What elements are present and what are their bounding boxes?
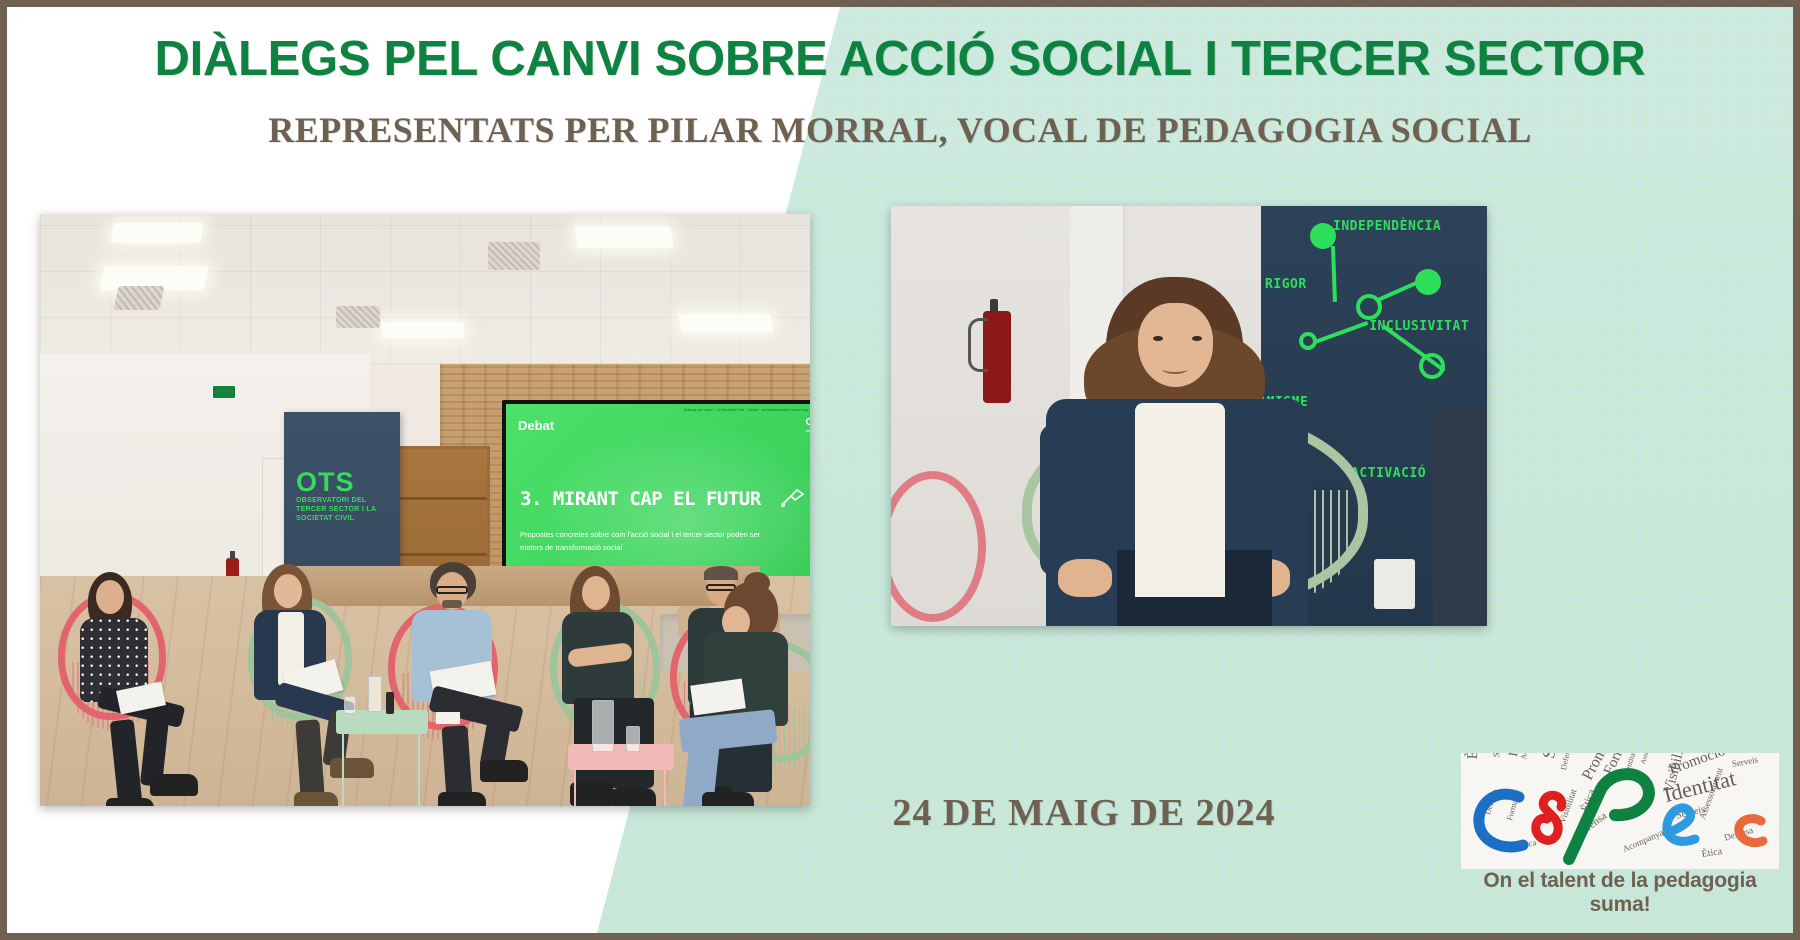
banner-label-inclusivitat: INCLUSIVITAT [1369,319,1469,334]
banner-edge [1331,246,1337,302]
adjacent-person [1433,408,1487,626]
slide-body-text: Propostes concretes sobre com l'acció so… [520,528,770,554]
table-leg [574,768,576,806]
ceiling-light [381,322,464,338]
event-date: 24 DE MAIG DE 2024 [869,791,1299,835]
fire-extinguisher-icon [983,311,1010,403]
napkin [436,712,460,724]
water-glass [626,726,640,752]
podium-step [290,566,760,606]
copec-logo: Ètica Serveis Identitat Acompanyament Se… [1461,753,1779,901]
telescope-icon [781,488,805,508]
water-pitcher [592,700,614,752]
logo-word-cloud: Ètica Serveis Identitat Acompanyament Se… [1461,753,1779,869]
banner-label-independencia: INDEPENDÈNCIA [1333,219,1441,234]
poster-canvas: DIÀLEGS PEL CANVI SOBRE ACCIÓ SOCIAL I T… [7,7,1793,933]
face [1138,303,1213,387]
page-subtitle: REPRESENTATS PER PILAR MORRAL, VOCAL DE … [7,109,1793,151]
page-title: DIÀLEGS PEL CANVI SOBRE ACCIÓ SOCIAL I T… [7,31,1793,87]
table-leg [664,768,666,806]
banner-label-activacio: ACTIVACIÓ [1351,466,1426,481]
panel-debate-photo: OTS OBSERVATORI DEL TERCER SECTOR I LA S… [40,214,810,806]
slide-heading: 3. MIRANT CAP EL FUTUR [520,488,761,510]
water-glass [368,676,382,712]
ceiling-light [110,223,204,243]
slide-ots-brand: OTS observatori [805,417,810,433]
microphone-icon [386,692,394,714]
table-leg [418,732,420,806]
eye [1192,336,1202,341]
logo-tagline: On el talent de la pedagogia suma! [1461,869,1779,917]
eyeglasses-icon [436,586,468,594]
ceiling-vent [488,242,540,270]
ceiling-vent [113,286,164,310]
water-glass [344,696,356,714]
cup [1374,559,1416,609]
banner-edge [1314,321,1368,344]
ceiling-light [574,226,673,248]
slide-top-note: Diàlegs pel canvi · La Societat Civil · … [684,408,810,412]
hand [1058,559,1112,597]
side-table-pink [568,744,674,770]
table-leg [342,732,344,806]
shirt [1135,403,1224,596]
exit-sign-icon [213,386,235,398]
slide-label-debat: Debat [518,418,554,433]
ceiling-vent [336,306,380,328]
arm [1040,424,1117,575]
pilar-morral-portrait: INDEPENDÈNCIA RIGOR INCLUSIVITAT DINAMIS… [891,206,1487,626]
ceiling-light [679,314,774,332]
room-scene: OTS OBSERVATORI DEL TERCER SECTOR I LA S… [40,214,810,806]
smile [1162,364,1188,374]
ots-banner-subtitle: OBSERVATORI DEL TERCER SECTOR I LA SOCIE… [296,496,386,523]
banner-label-rigor: RIGOR [1265,277,1307,292]
ots-banner-logo: OTS [296,467,355,498]
copec-letters [1461,753,1779,869]
